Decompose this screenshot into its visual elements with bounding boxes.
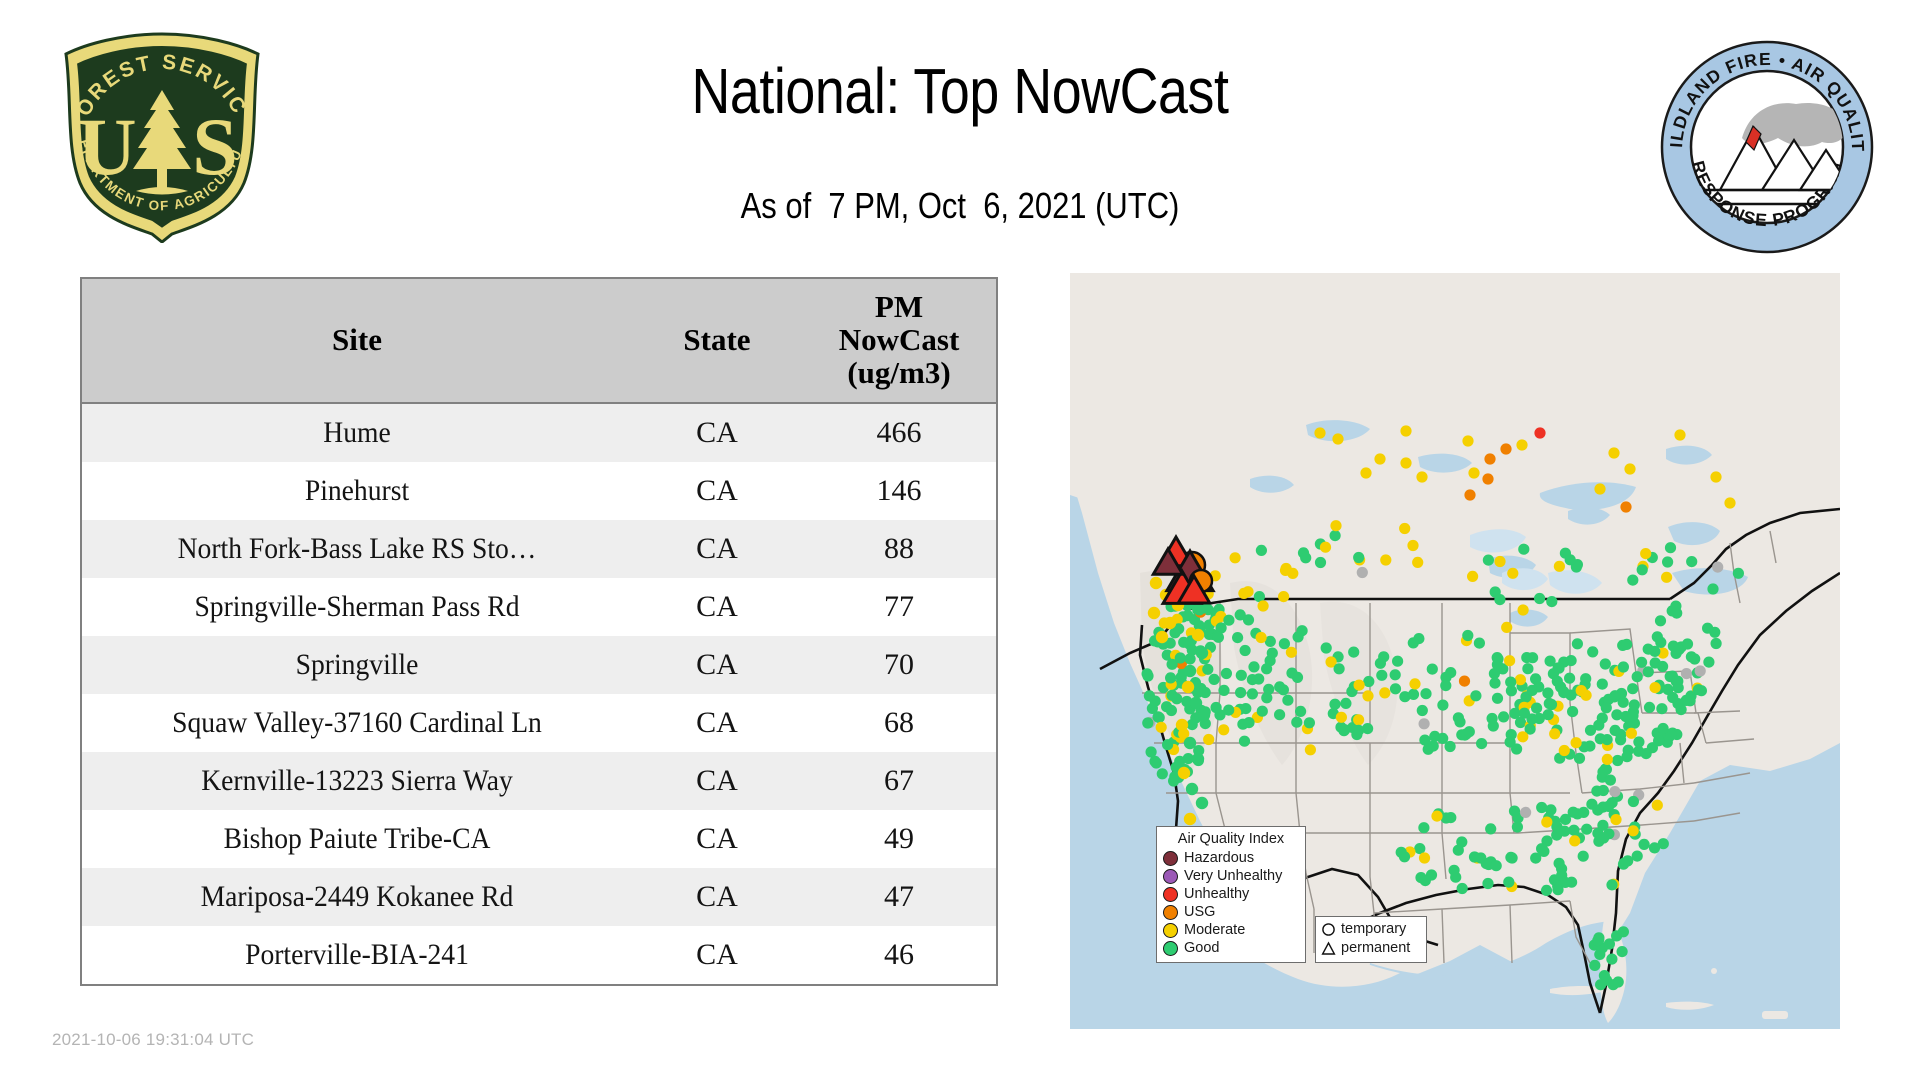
column-header-state[interactable]: State <box>632 279 802 403</box>
map-station-marker[interactable] <box>1156 631 1168 643</box>
map-station-marker[interactable] <box>1516 439 1527 450</box>
map-station-marker[interactable] <box>1408 637 1419 648</box>
map-station-marker[interactable] <box>1643 644 1654 655</box>
map-station-marker[interactable] <box>1291 717 1302 728</box>
table-row[interactable]: PinehurstCA146 <box>82 462 996 520</box>
map-station-marker[interactable] <box>1485 823 1496 834</box>
map-station-marker[interactable] <box>1412 557 1423 568</box>
map-station-marker[interactable] <box>1519 708 1530 719</box>
map-station-marker[interactable] <box>1419 718 1430 729</box>
map-station-marker[interactable] <box>1503 877 1514 888</box>
map-station-marker[interactable] <box>1292 672 1303 683</box>
map-station-marker[interactable] <box>1236 670 1247 681</box>
map-station-marker[interactable] <box>1148 607 1160 619</box>
map-station-marker[interactable] <box>1469 851 1480 862</box>
map-station-marker[interactable] <box>1315 557 1326 568</box>
map-station-marker[interactable] <box>1431 811 1442 822</box>
map-station-marker[interactable] <box>1567 706 1578 717</box>
map-station-marker[interactable] <box>1608 447 1619 458</box>
map-station-marker[interactable] <box>1483 555 1494 566</box>
map-station-marker[interactable] <box>1594 949 1605 960</box>
map-station-marker[interactable] <box>1652 631 1663 642</box>
map-station-marker[interactable] <box>1353 552 1364 563</box>
map-station-marker[interactable] <box>1536 843 1547 854</box>
table-row[interactable]: North Fork-Bass Lake RS Sto…CA88 <box>82 520 996 578</box>
map-station-marker[interactable] <box>1569 835 1580 846</box>
map-station-marker[interactable] <box>1223 615 1234 626</box>
map-station-marker[interactable] <box>1340 698 1351 709</box>
map-station-marker[interactable] <box>1353 725 1364 736</box>
map-station-marker[interactable] <box>1256 545 1267 556</box>
map-station-marker[interactable] <box>1332 433 1343 444</box>
column-header-pm-nowcast[interactable]: PM NowCast (ug/m3) <box>802 279 996 403</box>
map-station-marker[interactable] <box>1184 665 1196 677</box>
map-station-marker[interactable] <box>1518 604 1529 615</box>
map-station-marker[interactable] <box>1423 744 1434 755</box>
map-station-marker[interactable] <box>1624 463 1635 474</box>
map-station-marker[interactable] <box>1166 705 1177 716</box>
map-station-marker[interactable] <box>1696 685 1707 696</box>
map-station-marker[interactable] <box>1594 483 1605 494</box>
map-station-marker[interactable] <box>1230 552 1241 563</box>
map-station-marker[interactable] <box>1408 689 1419 700</box>
map-station-marker[interactable] <box>1263 684 1274 695</box>
map-station-marker[interactable] <box>1187 719 1198 730</box>
map-station-marker[interactable] <box>1578 851 1589 862</box>
map-station-marker[interactable] <box>1213 632 1224 643</box>
map-station-marker[interactable] <box>1628 825 1639 836</box>
map-station-marker[interactable] <box>1253 673 1264 684</box>
map-station-marker[interactable] <box>1232 632 1243 643</box>
map-station-marker[interactable] <box>1390 683 1401 694</box>
map-station-marker[interactable] <box>1498 711 1509 722</box>
map-station-marker[interactable] <box>1560 814 1571 825</box>
map-station-marker[interactable] <box>1662 556 1673 567</box>
map-station-marker[interactable] <box>1536 802 1547 813</box>
map-station-marker[interactable] <box>1176 719 1188 731</box>
map-station-marker[interactable] <box>1142 670 1153 681</box>
map-station-marker[interactable] <box>1476 738 1487 749</box>
map-station-marker[interactable] <box>1627 575 1638 586</box>
map-station-marker[interactable] <box>1509 806 1520 817</box>
map-station-marker[interactable] <box>1578 807 1589 818</box>
map-station-marker[interactable] <box>1464 726 1475 737</box>
map-station-marker[interactable] <box>1657 661 1668 672</box>
map-station-marker[interactable] <box>1330 530 1341 541</box>
map-station-marker[interactable] <box>1286 647 1297 658</box>
map-station-marker[interactable] <box>1489 668 1500 679</box>
map-station-marker[interactable] <box>1667 671 1678 682</box>
map-station-marker[interactable] <box>1566 655 1577 666</box>
map-station-marker[interactable] <box>1653 735 1664 746</box>
map-station-marker[interactable] <box>1506 729 1517 740</box>
map-station-marker[interactable] <box>1235 687 1246 698</box>
map-station-marker[interactable] <box>1501 622 1512 633</box>
map-station-marker[interactable] <box>1658 723 1669 734</box>
map-station-marker[interactable] <box>1608 979 1619 990</box>
map-station-marker[interactable] <box>1518 544 1529 555</box>
map-station-marker[interactable] <box>1559 826 1570 837</box>
map-station-marker[interactable] <box>1482 473 1493 484</box>
map-station-marker[interactable] <box>1261 663 1272 674</box>
map-station-marker[interactable] <box>1237 719 1248 730</box>
map-station-marker[interactable] <box>1468 467 1479 478</box>
map-station-marker[interactable] <box>1457 883 1468 894</box>
map-station-marker[interactable] <box>1621 751 1632 762</box>
map-station-marker[interactable] <box>1399 851 1410 862</box>
map-station-marker[interactable] <box>1546 596 1557 607</box>
map-station-marker[interactable] <box>1581 824 1592 835</box>
map-station-marker[interactable] <box>1338 725 1349 736</box>
map-station-marker[interactable] <box>1615 734 1626 745</box>
map-station-marker[interactable] <box>1580 673 1591 684</box>
map-station-marker[interactable] <box>1462 435 1473 446</box>
map-station-marker[interactable] <box>1164 617 1176 629</box>
map-station-marker[interactable] <box>1632 671 1643 682</box>
map-station-marker[interactable] <box>1522 663 1533 674</box>
map-station-marker[interactable] <box>1256 632 1267 643</box>
map-station-marker[interactable] <box>1182 681 1194 693</box>
map-station-marker[interactable] <box>1336 712 1347 723</box>
table-row[interactable]: Squaw Valley-37160 Cardinal LnCA68 <box>82 694 996 752</box>
map-station-marker[interactable] <box>1602 734 1613 745</box>
map-station-marker[interactable] <box>1247 688 1258 699</box>
map-station-marker[interactable] <box>1707 583 1718 594</box>
map-station-marker[interactable] <box>1420 688 1431 699</box>
map-station-marker[interactable] <box>1576 685 1587 696</box>
map-station-marker[interactable] <box>1621 639 1632 650</box>
map-station-marker[interactable] <box>1376 670 1387 681</box>
map-station-marker[interactable] <box>1223 705 1234 716</box>
map-station-marker[interactable] <box>1724 497 1735 508</box>
map-station-marker[interactable] <box>1598 832 1609 843</box>
map-station-marker[interactable] <box>1600 658 1611 669</box>
map-station-marker[interactable] <box>1274 709 1285 720</box>
map-station-marker[interactable] <box>1353 714 1364 725</box>
map-station-marker[interactable] <box>1200 687 1211 698</box>
map-station-marker[interactable] <box>1609 786 1620 797</box>
map-station-marker[interactable] <box>1566 877 1577 888</box>
map-station-marker[interactable] <box>1357 567 1368 578</box>
map-station-marker[interactable] <box>1437 700 1448 711</box>
map-station-marker[interactable] <box>1542 687 1553 698</box>
map-station-marker[interactable] <box>1712 562 1723 573</box>
map-station-marker[interactable] <box>1278 591 1289 602</box>
map-station-marker[interactable] <box>1554 561 1565 572</box>
map-station-marker[interactable] <box>1565 554 1576 565</box>
map-station-marker[interactable] <box>1186 783 1198 795</box>
map-station-marker[interactable] <box>1517 731 1528 742</box>
map-station-marker[interactable] <box>1314 427 1325 438</box>
map-station-marker[interactable] <box>1571 737 1582 748</box>
map-station-marker[interactable] <box>1670 601 1681 612</box>
map-station-marker[interactable] <box>1182 610 1193 621</box>
map-station-marker[interactable] <box>1190 697 1202 709</box>
map-station-marker[interactable] <box>1674 429 1685 440</box>
map-station-marker[interactable] <box>1243 614 1254 625</box>
map-station-marker[interactable] <box>1196 797 1208 809</box>
map-station-marker[interactable] <box>1558 687 1569 698</box>
map-station-marker[interactable] <box>1198 709 1210 721</box>
map-station-marker[interactable] <box>1686 556 1697 567</box>
map-station-marker[interactable] <box>1192 629 1204 641</box>
map-station-marker[interactable] <box>1392 656 1403 667</box>
map-station-marker[interactable] <box>1640 548 1651 559</box>
map-station-marker[interactable] <box>1363 676 1374 687</box>
map-station-marker[interactable] <box>1304 717 1315 728</box>
map-station-marker[interactable] <box>1150 577 1162 589</box>
map-station-marker[interactable] <box>1305 744 1316 755</box>
map-station-marker[interactable] <box>1400 425 1411 436</box>
map-station-marker[interactable] <box>1633 736 1644 747</box>
map-station-marker[interactable] <box>1598 785 1609 796</box>
map-station-marker[interactable] <box>1527 685 1538 696</box>
map-station-marker[interactable] <box>1627 710 1638 721</box>
map-station-marker[interactable] <box>1419 852 1430 863</box>
map-station-marker[interactable] <box>1248 661 1259 672</box>
map-station-marker[interactable] <box>1597 679 1608 690</box>
map-station-marker[interactable] <box>1559 745 1570 756</box>
map-station-marker[interactable] <box>1492 693 1503 704</box>
map-station-marker[interactable] <box>1556 870 1567 881</box>
map-station-marker[interactable] <box>1462 630 1473 641</box>
map-station-marker[interactable] <box>1552 676 1563 687</box>
map-station-marker[interactable] <box>1330 520 1341 531</box>
map-station-marker[interactable] <box>1601 702 1612 713</box>
map-station-marker[interactable] <box>1661 572 1672 583</box>
map-station-marker[interactable] <box>1196 647 1208 659</box>
map-station-marker[interactable] <box>1618 697 1629 708</box>
column-header-site[interactable]: Site <box>82 279 632 403</box>
map-station-marker[interactable] <box>1295 706 1306 717</box>
map-station-marker[interactable] <box>1239 736 1250 747</box>
map-station-marker[interactable] <box>1667 692 1678 703</box>
map-station-marker[interactable] <box>1703 657 1714 668</box>
map-station-marker[interactable] <box>1211 702 1222 713</box>
map-station-marker[interactable] <box>1618 661 1629 672</box>
map-station-marker[interactable] <box>1218 724 1229 735</box>
map-station-marker[interactable] <box>1592 805 1603 816</box>
map-station-marker[interactable] <box>1240 645 1251 656</box>
map-station-marker[interactable] <box>1505 677 1516 688</box>
table-row[interactable]: Kernville-13223 Sierra WayCA67 <box>82 752 996 810</box>
map-station-marker[interactable] <box>1515 674 1526 685</box>
map-station-marker[interactable] <box>1437 733 1448 744</box>
map-station-marker[interactable] <box>1418 822 1429 833</box>
map-station-marker[interactable] <box>1681 695 1692 706</box>
map-station-marker[interactable] <box>1606 954 1617 965</box>
map-station-marker[interactable] <box>1300 552 1311 563</box>
map-station-marker[interactable] <box>1157 768 1168 779</box>
map-station-marker[interactable] <box>1541 817 1552 828</box>
map-station-marker[interactable] <box>1171 693 1182 704</box>
map-station-marker[interactable] <box>1459 676 1470 687</box>
map-station-marker[interactable] <box>1604 938 1615 949</box>
map-station-marker[interactable] <box>1279 638 1290 649</box>
map-station-marker[interactable] <box>1500 443 1511 454</box>
map-station-marker[interactable] <box>1399 523 1410 534</box>
map-station-marker[interactable] <box>1587 646 1598 657</box>
map-station-marker[interactable] <box>1504 655 1515 666</box>
map-station-marker[interactable] <box>1168 775 1179 786</box>
map-station-marker[interactable] <box>1552 884 1563 895</box>
map-station-marker[interactable] <box>1415 872 1426 883</box>
map-station-marker[interactable] <box>1146 746 1157 757</box>
map-station-marker[interactable] <box>1689 653 1700 664</box>
map-station-marker[interactable] <box>1627 683 1638 694</box>
map-station-marker[interactable] <box>1348 647 1359 658</box>
map-station-marker[interactable] <box>1417 705 1428 716</box>
map-station-marker[interactable] <box>1602 754 1613 765</box>
map-station-marker[interactable] <box>1375 658 1386 669</box>
table-row[interactable]: SpringvilleCA70 <box>82 636 996 694</box>
map-station-marker[interactable] <box>1218 685 1229 696</box>
map-station-marker[interactable] <box>1156 722 1167 733</box>
map-station-marker[interactable] <box>1362 690 1373 701</box>
map-station-marker[interactable] <box>1531 703 1542 714</box>
map-station-marker[interactable] <box>1175 652 1186 663</box>
map-station-marker[interactable] <box>1643 666 1654 677</box>
map-station-marker[interactable] <box>1202 664 1213 675</box>
map-station-marker[interactable] <box>1605 775 1616 786</box>
map-station-marker[interactable] <box>1409 678 1420 689</box>
map-station-marker[interactable] <box>1603 801 1614 812</box>
map-station-marker[interactable] <box>1184 813 1196 825</box>
map-station-marker[interactable] <box>1484 453 1495 464</box>
map-station-marker[interactable] <box>1400 457 1411 468</box>
map-station-marker[interactable] <box>1658 838 1669 849</box>
map-station-marker[interactable] <box>1554 858 1565 869</box>
map-station-marker[interactable] <box>1681 668 1692 679</box>
table-row[interactable]: Bishop Paiute Tribe-CACA49 <box>82 810 996 868</box>
map-station-marker[interactable] <box>1427 664 1438 675</box>
map-station-marker[interactable] <box>1456 836 1467 847</box>
map-station-marker[interactable] <box>1597 820 1608 831</box>
map-station-marker[interactable] <box>1541 885 1552 896</box>
map-station-marker[interactable] <box>1474 638 1485 649</box>
map-station-marker[interactable] <box>1454 716 1465 727</box>
map-station-marker[interactable] <box>1334 663 1345 674</box>
map-station-marker[interactable] <box>1491 860 1502 871</box>
map-station-marker[interactable] <box>1467 571 1478 582</box>
map-station-marker[interactable] <box>1492 652 1503 663</box>
map-station-marker[interactable] <box>1380 554 1391 565</box>
map-station-marker[interactable] <box>1650 682 1661 693</box>
map-station-marker[interactable] <box>1618 859 1629 870</box>
map-station-marker[interactable] <box>1520 807 1531 818</box>
map-station-marker[interactable] <box>1184 737 1196 749</box>
map-station-marker[interactable] <box>1360 467 1371 478</box>
map-station-marker[interactable] <box>1257 706 1268 717</box>
map-station-marker[interactable] <box>1595 979 1606 990</box>
map-station-marker[interactable] <box>1374 453 1385 464</box>
map-station-marker[interactable] <box>1652 800 1663 811</box>
map-station-marker[interactable] <box>1593 720 1604 731</box>
map-station-marker[interactable] <box>1527 652 1538 663</box>
map-station-marker[interactable] <box>1534 427 1545 438</box>
map-station-marker[interactable] <box>1321 642 1332 653</box>
map-station-marker[interactable] <box>1238 588 1249 599</box>
map-station-marker[interactable] <box>1656 703 1667 714</box>
map-station-marker[interactable] <box>1512 821 1523 832</box>
map-station-marker[interactable] <box>1329 699 1340 710</box>
map-station-marker[interactable] <box>1390 669 1401 680</box>
map-station-marker[interactable] <box>1274 681 1285 692</box>
map-station-marker[interactable] <box>1192 753 1204 765</box>
map-station-marker[interactable] <box>1282 695 1293 706</box>
map-station-marker[interactable] <box>1494 556 1505 567</box>
map-station-marker[interactable] <box>1267 648 1278 659</box>
map-station-marker[interactable] <box>1142 717 1153 728</box>
map-station-marker[interactable] <box>1589 960 1600 971</box>
map-station-marker[interactable] <box>1628 796 1639 807</box>
map-station-marker[interactable] <box>1702 623 1713 634</box>
map-station-marker[interactable] <box>1639 839 1650 850</box>
map-station-marker[interactable] <box>1534 593 1545 604</box>
map-station-marker[interactable] <box>1626 728 1637 739</box>
map-station-marker[interactable] <box>1209 674 1220 685</box>
map-station-marker[interactable] <box>1733 568 1744 579</box>
map-station-marker[interactable] <box>1644 702 1655 713</box>
map-station-marker[interactable] <box>1162 739 1173 750</box>
map-station-marker[interactable] <box>1549 728 1560 739</box>
map-station-marker[interactable] <box>1592 935 1603 946</box>
map-station-marker[interactable] <box>1494 594 1505 605</box>
map-station-marker[interactable] <box>1440 680 1451 691</box>
map-station-marker[interactable] <box>1665 542 1676 553</box>
map-station-marker[interactable] <box>1449 865 1460 876</box>
map-station-marker[interactable] <box>1320 542 1331 553</box>
table-row[interactable]: Porterville-BIA-241CA46 <box>82 926 996 984</box>
map-station-marker[interactable] <box>1407 540 1418 551</box>
map-station-marker[interactable] <box>1710 471 1721 482</box>
map-station-marker[interactable] <box>1673 682 1684 693</box>
map-station-marker[interactable] <box>1632 851 1643 862</box>
map-station-marker[interactable] <box>1655 615 1666 626</box>
map-station-marker[interactable] <box>1489 678 1500 689</box>
map-station-marker[interactable] <box>1553 662 1564 673</box>
map-station-marker[interactable] <box>1354 680 1365 691</box>
map-station-marker[interactable] <box>1488 720 1499 731</box>
map-station-marker[interactable] <box>1151 757 1162 768</box>
table-row[interactable]: Springville-Sherman Pass RdCA77 <box>82 578 996 636</box>
map-station-marker[interactable] <box>1695 665 1706 676</box>
map-station-marker[interactable] <box>1258 600 1269 611</box>
map-station-marker[interactable] <box>1144 690 1155 701</box>
map-station-marker[interactable] <box>1379 687 1390 698</box>
map-station-marker[interactable] <box>1507 568 1518 579</box>
map-station-marker[interactable] <box>1221 668 1232 679</box>
map-station-marker[interactable] <box>1572 638 1583 649</box>
map-station-marker[interactable] <box>1511 743 1522 754</box>
map-station-marker[interactable] <box>1564 673 1575 684</box>
map-station-marker[interactable] <box>1546 699 1557 710</box>
map-station-marker[interactable] <box>1637 564 1648 575</box>
map-station-marker[interactable] <box>1543 709 1554 720</box>
map-station-marker[interactable] <box>1445 667 1456 678</box>
map-station-marker[interactable] <box>1711 638 1722 649</box>
map-station-marker[interactable] <box>1673 644 1684 655</box>
map-station-marker[interactable] <box>1606 879 1617 890</box>
map-station-marker[interactable] <box>1203 734 1214 745</box>
table-row[interactable]: Mariposa-2449 Kokanee RdCA47 <box>82 868 996 926</box>
map-station-marker[interactable] <box>1629 699 1640 710</box>
map-station-marker[interactable] <box>1601 764 1612 775</box>
national-aqi-map[interactable]: Air Quality Index HazardousVery Unhealth… <box>1070 273 1840 1029</box>
map-station-marker[interactable] <box>1507 852 1518 863</box>
map-station-marker[interactable] <box>1482 878 1493 889</box>
map-station-marker[interactable] <box>1574 753 1585 764</box>
